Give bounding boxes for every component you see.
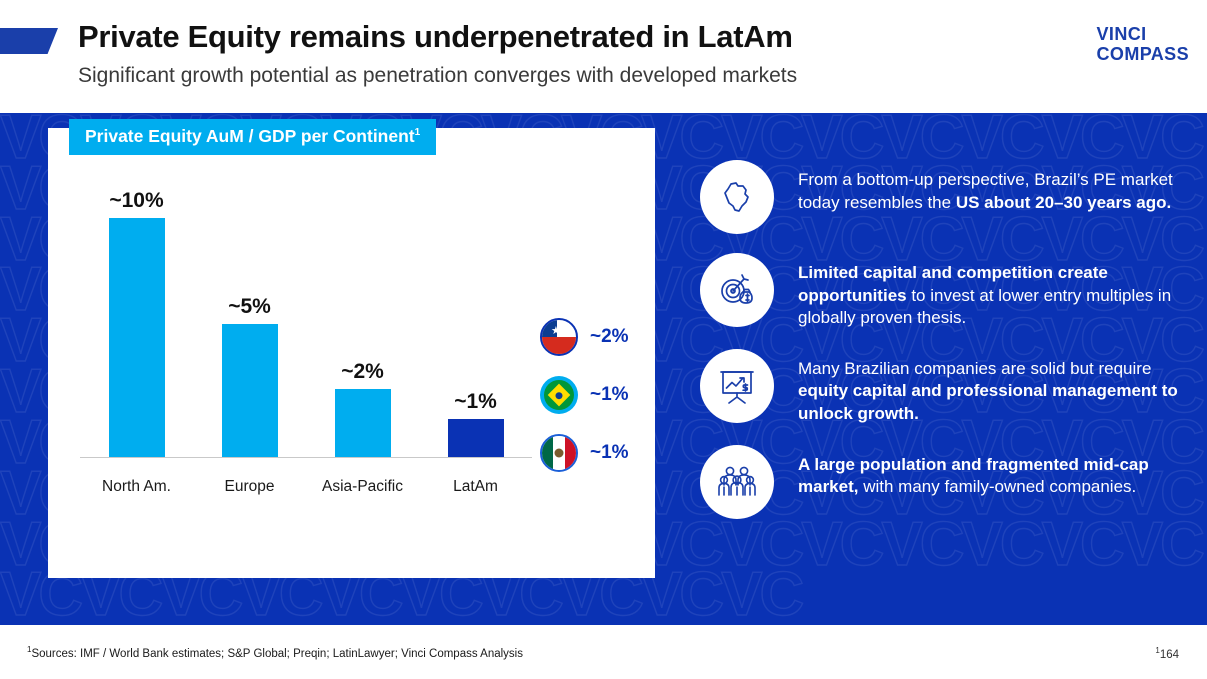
chart-x-axis-labels: North Am. Europe Asia-Pacific LatAm bbox=[80, 478, 532, 496]
legend-value-label: ~1% bbox=[590, 442, 629, 464]
x-tick-label: North Am. bbox=[80, 478, 193, 496]
insights-list: From a bottom-up perspective, Brazil’s P… bbox=[700, 160, 1190, 519]
chart-card-title-text: Private Equity AuM / GDP per Continent bbox=[85, 126, 415, 146]
vinci-compass-logo: VINCI COMPASS bbox=[1097, 24, 1189, 64]
logo-line-2: COMPASS bbox=[1097, 44, 1189, 64]
list-item: Limited capital and competition create o… bbox=[700, 253, 1190, 330]
x-tick-label: LatAm bbox=[419, 478, 532, 496]
page-number: 1164 bbox=[1155, 646, 1179, 661]
bar-value-label: ~2% bbox=[341, 360, 384, 384]
bar-value-label: ~5% bbox=[228, 295, 271, 319]
table-row bbox=[222, 324, 278, 457]
footnote: 1Sources: IMF / World Bank estimates; S&… bbox=[27, 645, 523, 660]
bar-group: ~5% bbox=[193, 189, 306, 457]
chart-country-legend: ★ ~2% ~1% ~1% bbox=[540, 318, 629, 472]
x-tick-label: Asia-Pacific bbox=[306, 478, 419, 496]
footnote-text: Sources: IMF / World Bank estimates; S&P… bbox=[31, 648, 523, 660]
insight-text: From a bottom-up perspective, Brazil’s P… bbox=[798, 160, 1190, 214]
chile-flag-icon: ★ bbox=[540, 318, 578, 356]
bar-value-label: ~10% bbox=[109, 189, 163, 213]
insight-plain-2: with many family-owned companies. bbox=[858, 477, 1136, 496]
insight-bold-1: equity capital and professional manageme… bbox=[798, 381, 1178, 423]
insight-bold-1: US about 20–30 years ago. bbox=[956, 193, 1171, 212]
slide: Private Equity remains underpenetrated i… bbox=[0, 0, 1207, 679]
target-moneybag-icon bbox=[700, 253, 774, 327]
page-subtitle: Significant growth potential as penetrat… bbox=[78, 64, 797, 88]
insight-text: Many Brazilian companies are solid but r… bbox=[798, 349, 1190, 426]
list-item: Many Brazilian companies are solid but r… bbox=[700, 349, 1190, 426]
list-item: ★ ~2% bbox=[540, 318, 629, 356]
insight-text: Limited capital and competition create o… bbox=[798, 253, 1190, 330]
brazil-map-icon bbox=[700, 160, 774, 234]
list-item: ~1% bbox=[540, 434, 629, 472]
people-group-icon bbox=[700, 445, 774, 519]
bar-value-label: ~1% bbox=[454, 390, 497, 414]
insight-text: A large population and fragmented mid-ca… bbox=[798, 445, 1190, 499]
legend-value-label: ~2% bbox=[590, 326, 629, 348]
list-item: From a bottom-up perspective, Brazil’s P… bbox=[700, 160, 1190, 234]
chart-card-title: Private Equity AuM / GDP per Continent1 bbox=[69, 119, 436, 155]
insight-plain-1: Many Brazilian companies are solid but r… bbox=[798, 359, 1151, 378]
bar-group: ~10% bbox=[80, 189, 193, 457]
chart-plot-area: ~10% ~5% ~2% ~1% bbox=[72, 190, 532, 520]
chart-card: Private Equity AuM / GDP per Continent1 … bbox=[48, 128, 655, 578]
x-tick-label: Europe bbox=[193, 478, 306, 496]
header-accent-shape bbox=[0, 28, 58, 54]
table-row bbox=[335, 389, 391, 457]
table-row bbox=[448, 419, 504, 457]
page-number-text: 164 bbox=[1160, 649, 1179, 661]
bar-group: ~1% bbox=[419, 189, 532, 457]
bar-group: ~2% bbox=[306, 189, 419, 457]
page-title: Private Equity remains underpenetrated i… bbox=[78, 19, 793, 55]
chart-bars: ~10% ~5% ~2% ~1% bbox=[80, 189, 532, 457]
legend-value-label: ~1% bbox=[590, 384, 629, 406]
list-item: ~1% bbox=[540, 376, 629, 414]
chart-card-title-superscript: 1 bbox=[415, 127, 421, 138]
bar-chart: ~10% ~5% ~2% ~1% bbox=[72, 190, 642, 570]
mexico-flag-icon bbox=[540, 434, 578, 472]
brazil-flag-icon bbox=[540, 376, 578, 414]
presentation-chart-icon bbox=[700, 349, 774, 423]
table-row bbox=[109, 218, 165, 457]
logo-line-1: VINCI bbox=[1097, 24, 1189, 44]
list-item: A large population and fragmented mid-ca… bbox=[700, 445, 1190, 519]
